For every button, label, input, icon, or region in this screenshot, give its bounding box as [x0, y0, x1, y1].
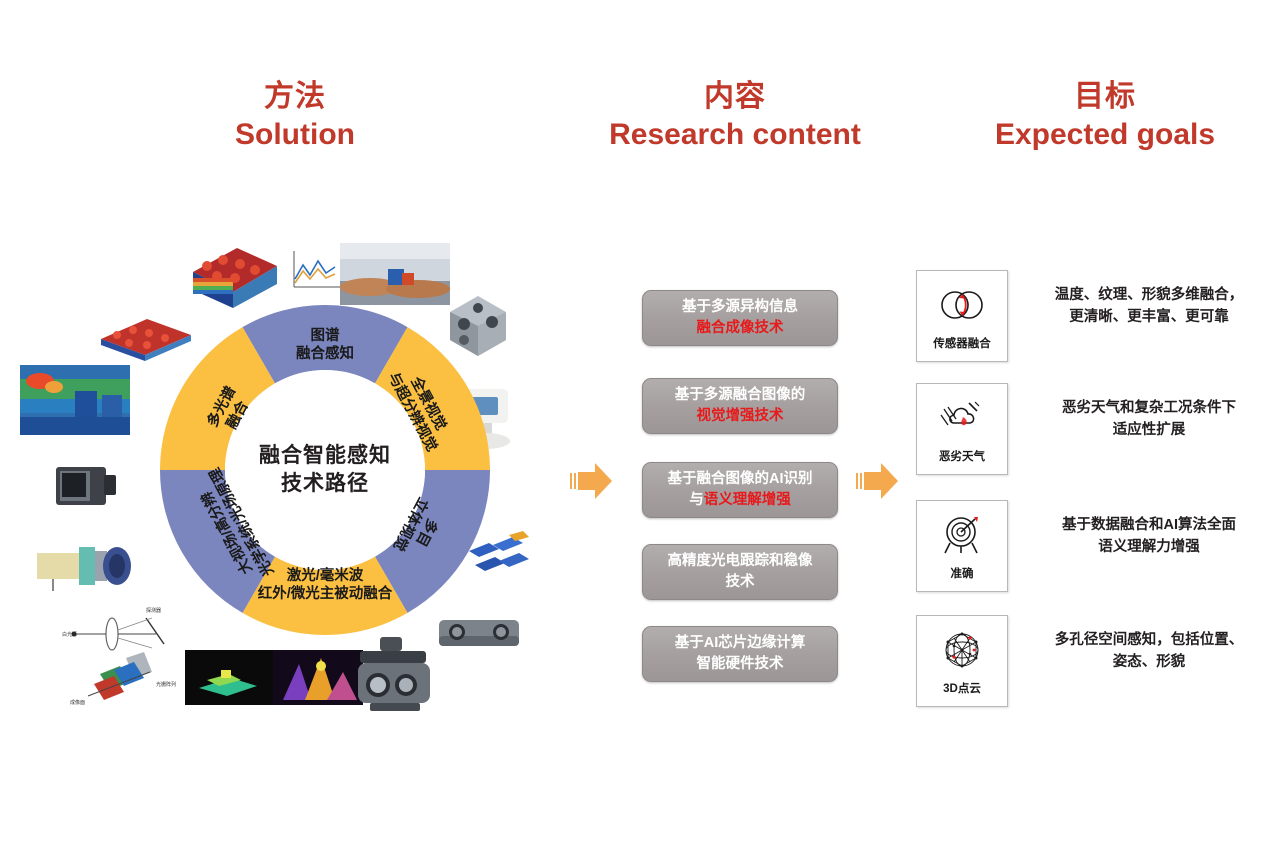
- svg-text:白光源: 白光源: [62, 631, 77, 638]
- column-header-content-cn: 内容: [590, 78, 880, 116]
- research-box-1-line1: 基于多源异构信息: [682, 297, 798, 318]
- column-header-goals-en: Expected goals: [955, 116, 1255, 154]
- target-bullseye-icon: [935, 509, 989, 561]
- thumbnail-optical-assembly: [35, 535, 140, 597]
- svg-text:探测器: 探测器: [146, 607, 161, 614]
- point-cloud-sphere-icon: [935, 624, 989, 676]
- research-box-3-prefix: 与: [689, 492, 704, 508]
- goal-card-label-1: 传感器融合: [933, 335, 991, 351]
- research-box-1-line2: 融合成像技术: [697, 318, 784, 339]
- column-header-goals-cn: 目标: [955, 78, 1255, 116]
- goal-card-label-2: 恶劣天气: [939, 448, 985, 464]
- column-header-expected-goals: 目标 Expected goals: [955, 78, 1255, 153]
- goal-2-line1: 恶劣天气和复杂工况条件下: [1034, 397, 1264, 419]
- research-box-3-line2: 语义理解增强: [704, 492, 791, 508]
- sensor-fusion-venn-icon: [935, 279, 989, 331]
- column-header-research-content: 内容 Research content: [590, 78, 880, 153]
- research-box-ai-chip-edge[interactable]: 基于AI芯片边缘计算 智能硬件技术: [642, 626, 838, 682]
- column-header-content-en: Research content: [590, 116, 880, 154]
- research-box-3-line1: 基于融合图像的AI识别: [668, 469, 813, 490]
- research-box-visual-enhancement[interactable]: 基于多源融合图像的 视觉增强技术: [642, 378, 838, 434]
- goal-card-bad-weather[interactable]: 恶劣天气: [916, 383, 1008, 475]
- research-box-2-line2: 视觉增强技术: [697, 406, 784, 427]
- arrow-content-to-goals: [854, 460, 900, 502]
- wheel-label-tupu: 图谱 融合感知: [275, 327, 375, 363]
- thumbnail-lidar-scene-dark: [185, 650, 275, 705]
- research-box-5-line2: 智能硬件技术: [697, 654, 784, 675]
- thumbnail-spectral-plot: [285, 245, 345, 297]
- goal-row-sensor-fusion: 传感器融合 温度、纹理、形貌多维融合， 更清晰、更丰富、更可靠: [916, 270, 1256, 366]
- column-header-solution-en: Solution: [170, 116, 420, 154]
- goal-2-line2: 适应性扩展: [1034, 419, 1264, 441]
- goal-card-label-4: 3D点云: [943, 680, 981, 696]
- goal-card-accuracy[interactable]: 准确: [916, 500, 1008, 592]
- thumbnail-industrial-camera: [50, 457, 120, 513]
- research-box-4-line1: 高精度光电跟踪和稳像: [668, 551, 813, 572]
- goal-3-line2: 语义理解力增强: [1034, 536, 1264, 558]
- goal-card-point-cloud[interactable]: 3D点云: [916, 615, 1008, 707]
- column-header-solution: 方法 Solution: [170, 78, 420, 153]
- goal-row-bad-weather: 恶劣天气 恶劣天气和复杂工况条件下 适应性扩展: [916, 383, 1256, 479]
- goal-text-point-cloud: 多孔径空间感知，包括位置、 姿态、形貌: [1034, 629, 1264, 674]
- thumbnail-pipeline-inspection-photo: [340, 243, 450, 305]
- goal-row-point-cloud: 3D点云 多孔径空间感知，包括位置、 姿态、形貌: [916, 615, 1256, 711]
- thumbnail-hyperspectral-cube: [185, 240, 280, 312]
- goal-3-line1: 基于数据融合和AI算法全面: [1034, 514, 1264, 536]
- goal-4-line2: 姿态、形貌: [1034, 651, 1264, 673]
- goal-text-sensor-fusion: 温度、纹理、形貌多维融合， 更清晰、更丰富、更可靠: [1034, 284, 1264, 329]
- research-box-fusion-imaging[interactable]: 基于多源异构信息 融合成像技术: [642, 290, 838, 346]
- column-header-solution-cn: 方法: [170, 78, 420, 116]
- goal-text-bad-weather: 恶劣天气和复杂工况条件下 适应性扩展: [1034, 397, 1264, 442]
- goal-1-line2: 更清晰、更丰富、更可靠: [1034, 306, 1264, 328]
- svg-text:成像面: 成像面: [70, 699, 85, 706]
- svg-text:光栅阵列: 光栅阵列: [156, 681, 176, 688]
- thumbnail-eo-ir-turret: [350, 635, 440, 717]
- technology-roadmap-donut: 图谱 融合感知 全景视觉 与超分辨视觉 多目 立体视觉 激光/毫米波 红外/微光…: [160, 305, 490, 635]
- wheel-center-line2: 技术路径: [281, 470, 369, 498]
- research-box-4-line2: 技术: [726, 572, 755, 593]
- goal-card-sensor-fusion[interactable]: 传感器融合: [916, 270, 1008, 362]
- wheel-center-line1: 融合智能感知: [259, 442, 391, 470]
- goal-1-line1: 温度、纹理、形貌多维融合，: [1034, 284, 1264, 306]
- goal-4-line1: 多孔径空间感知，包括位置、: [1034, 629, 1264, 651]
- research-box-5-line1: 基于AI芯片边缘计算: [675, 633, 806, 654]
- research-box-ai-recognition[interactable]: 基于融合图像的AI识别 与语义理解增强: [642, 462, 838, 518]
- goal-row-accuracy: 准确 基于数据融合和AI算法全面 语义理解力增强: [916, 500, 1256, 596]
- research-box-2-line1: 基于多源融合图像的: [675, 385, 806, 406]
- arrow-solution-to-content: [568, 460, 614, 502]
- goal-text-accuracy: 基于数据融合和AI算法全面 语义理解力增强: [1034, 514, 1264, 559]
- research-box-optical-tracking[interactable]: 高精度光电跟踪和稳像 技术: [642, 544, 838, 600]
- thumbnail-thermal-scene: [20, 365, 130, 435]
- solution-wheel-area: 白光源 探测器 光栅阵列 成像面: [20, 235, 520, 725]
- goal-card-label-3: 准确: [951, 565, 974, 581]
- bad-weather-rain-icon: [935, 392, 989, 444]
